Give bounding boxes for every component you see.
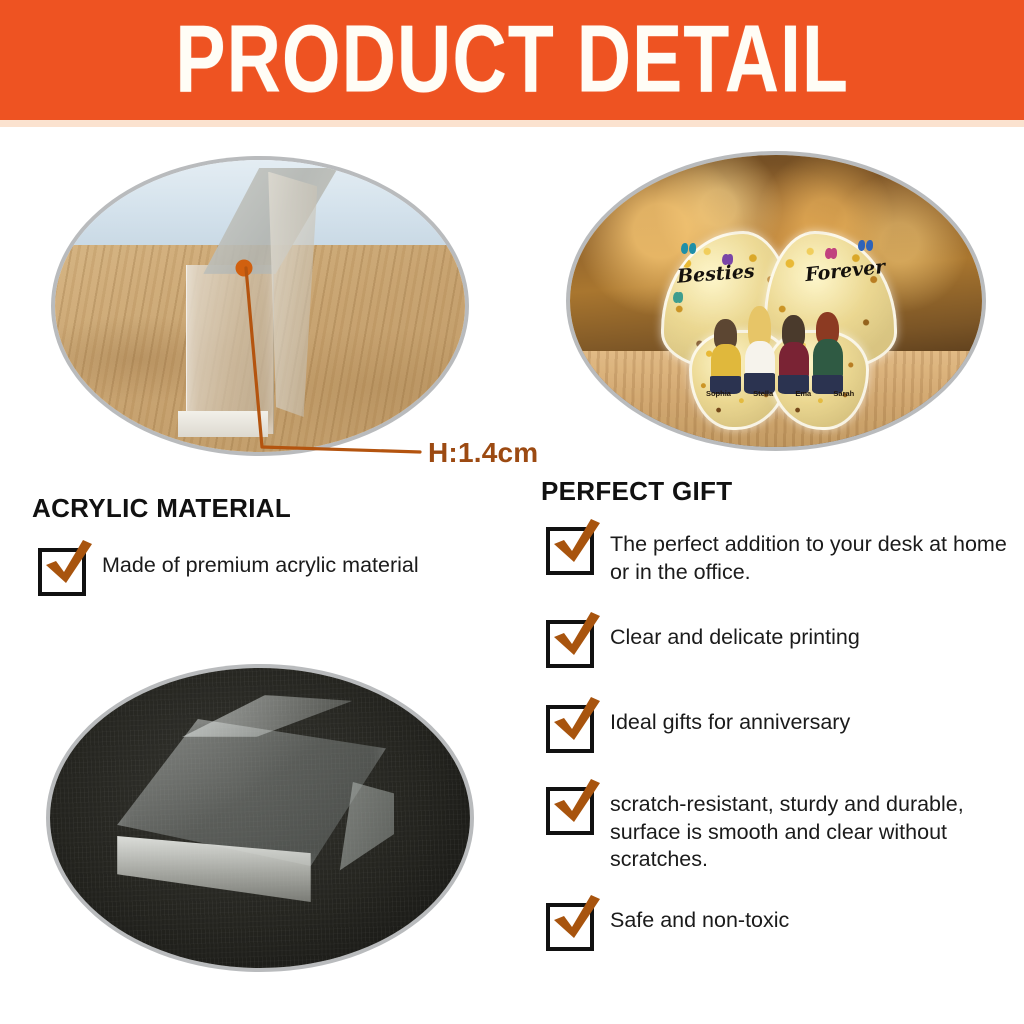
acrylic-block-photo bbox=[50, 668, 470, 968]
check-icon bbox=[548, 778, 604, 828]
feature-item-gift-2: Clear and delicate printing bbox=[546, 620, 860, 668]
name-4: Sarah bbox=[833, 389, 854, 398]
checkbox bbox=[546, 903, 594, 951]
checkbox bbox=[546, 620, 594, 668]
acrylic-base-edge bbox=[178, 411, 268, 437]
figure-3 bbox=[778, 315, 809, 394]
checkbox bbox=[546, 705, 594, 753]
name-2: Stella bbox=[753, 389, 773, 398]
personalized-names-row: Sophia Stella Ema Sarah bbox=[706, 389, 854, 398]
checkbox bbox=[546, 787, 594, 835]
dimension-marker-dot bbox=[235, 260, 252, 277]
feature-text: Safe and non-toxic bbox=[610, 903, 789, 935]
small-butterfly-icon bbox=[825, 248, 837, 257]
figure-1 bbox=[710, 319, 741, 394]
check-icon bbox=[548, 894, 604, 944]
section-heading-perfect-gift: PERFECT GIFT bbox=[541, 476, 732, 507]
product-detail-page: PRODUCT DETAIL H:1.4cm bbox=[0, 0, 1024, 1024]
feature-item-gift-3: Ideal gifts for anniversary bbox=[546, 705, 850, 753]
butterfly-photo-content: Besties Forever bbox=[570, 155, 982, 447]
section-heading-acrylic-material: ACRYLIC MATERIAL bbox=[32, 493, 291, 524]
feature-text: Clear and delicate printing bbox=[610, 620, 860, 652]
check-icon bbox=[548, 611, 604, 661]
feature-item-gift-1: The perfect addition to your desk at hom… bbox=[546, 527, 1020, 586]
dimension-label: H:1.4cm bbox=[428, 437, 538, 469]
check-icon bbox=[40, 539, 96, 589]
check-icon bbox=[548, 518, 604, 568]
feature-item-gift-4: scratch-resistant, sturdy and durable, s… bbox=[546, 787, 1020, 874]
name-1: Sophia bbox=[706, 389, 731, 398]
check-icon bbox=[548, 696, 604, 746]
acrylic-slab-body bbox=[186, 265, 274, 434]
figure-2 bbox=[744, 306, 775, 395]
small-butterfly-icon bbox=[673, 292, 683, 300]
name-3: Ema bbox=[795, 389, 811, 398]
acrylic-edge-photo bbox=[55, 160, 465, 452]
figure-4 bbox=[812, 312, 843, 395]
feature-text: The perfect addition to your desk at hom… bbox=[610, 527, 1020, 586]
feature-item-gift-5: Safe and non-toxic bbox=[546, 903, 789, 951]
feature-item-acrylic-1: Made of premium acrylic material bbox=[38, 548, 419, 596]
page-header-banner: PRODUCT DETAIL bbox=[0, 0, 1024, 120]
small-butterfly-icon bbox=[681, 243, 696, 254]
friends-illustration bbox=[710, 298, 846, 394]
small-butterfly-icon bbox=[858, 240, 873, 251]
page-title: PRODUCT DETAIL bbox=[175, 12, 849, 107]
checkbox bbox=[38, 548, 86, 596]
acrylic-block-photo-content bbox=[50, 668, 470, 968]
butterfly-plaque-photo: Besties Forever bbox=[570, 155, 982, 447]
feature-text: Ideal gifts for anniversary bbox=[610, 705, 850, 737]
feature-text: Made of premium acrylic material bbox=[102, 548, 419, 580]
acrylic-edge-photo-content bbox=[55, 160, 465, 452]
feature-text: scratch-resistant, sturdy and durable, s… bbox=[610, 787, 1020, 874]
checkbox bbox=[546, 527, 594, 575]
header-accent-strip bbox=[0, 120, 1024, 127]
